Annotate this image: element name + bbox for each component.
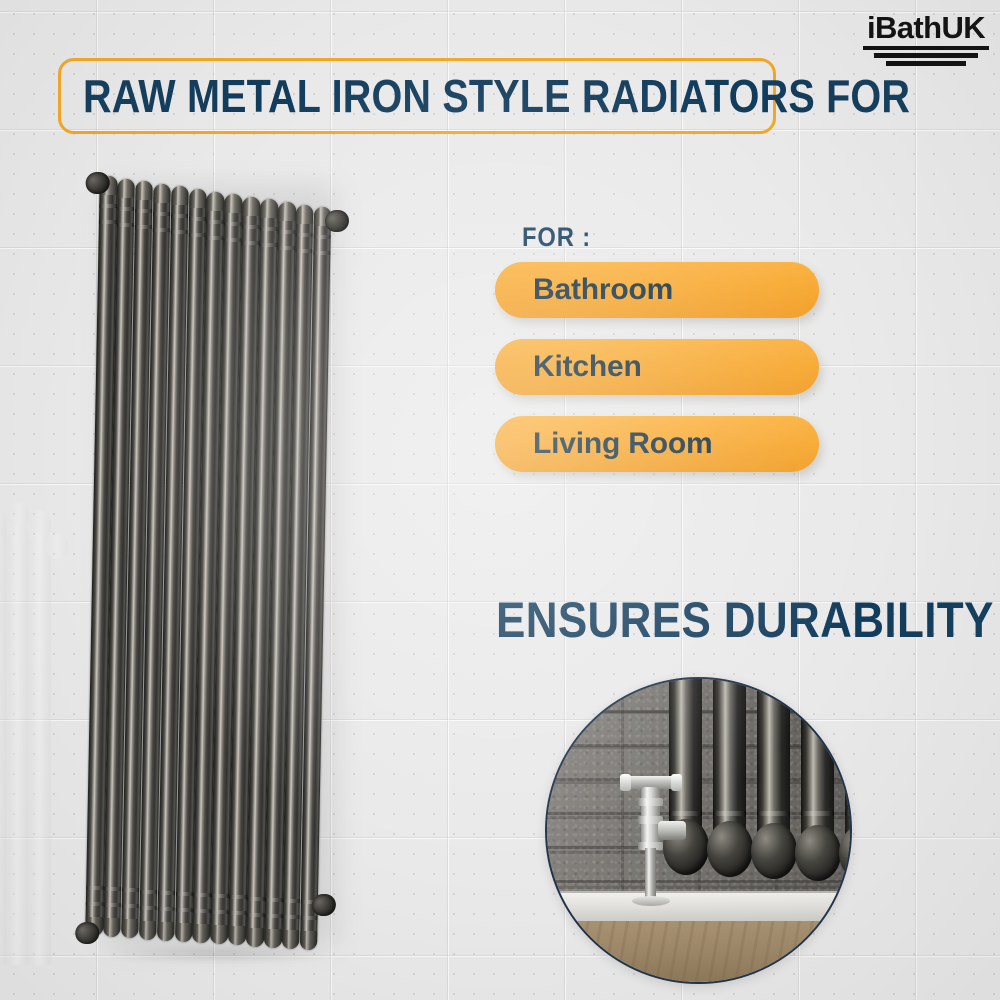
radiator-column-band [170, 230, 188, 234]
radiator-column-cap [117, 179, 135, 198]
radiator-column-band [117, 223, 135, 227]
radiator-column-band [122, 888, 140, 892]
radiator-column-band [104, 903, 122, 907]
radiator-column-band [99, 220, 117, 224]
radiator-column-band [153, 212, 171, 216]
radiator-column-band [247, 913, 265, 917]
brand-logo: iBathUK [862, 12, 990, 68]
radiator-column-band [117, 207, 135, 211]
brand-logo-text: iBathUK [867, 12, 985, 44]
pill-living-room[interactable]: Living Room [495, 416, 819, 472]
radiator-column-band [283, 899, 301, 903]
headline-box: RAW METAL IRON STYLE RADIATORS FOR [58, 58, 776, 134]
logo-bar-3 [886, 61, 966, 66]
radiator-column-band [86, 902, 104, 906]
detail-chrome-valve [622, 776, 680, 904]
radiator-column-band [265, 898, 283, 902]
radiator-valve-port [312, 894, 336, 916]
radiator-column-band [260, 227, 278, 231]
radiator-column-band [211, 910, 229, 914]
radiator-column-band [313, 235, 331, 239]
radiator-column-cap [296, 205, 314, 224]
radiator-valve-port [75, 922, 99, 944]
radiator-column-band [104, 887, 122, 891]
radiator-column-band [86, 886, 104, 890]
radiator-column-band [99, 204, 117, 208]
radiator-column-foot [121, 919, 139, 938]
radiator-column-band [211, 894, 229, 898]
radiator-column-foot [228, 926, 246, 945]
radiator-column-band [175, 892, 193, 896]
radiator-column-cap [260, 199, 278, 218]
radiator-column-band [193, 909, 211, 913]
radiator-column-band [135, 209, 153, 213]
radiator-column-band [224, 238, 242, 242]
radiator-column-band [282, 915, 300, 919]
radiator-column-band [139, 906, 157, 910]
radiator-column-cap [171, 186, 189, 205]
radiator-column-band [313, 251, 331, 255]
radiator-column-band [188, 233, 206, 237]
use-case-pill-list: Bathroom Kitchen Living Room [495, 262, 821, 493]
for-label: FOR : [522, 222, 591, 253]
radiator-column-cap [189, 189, 207, 208]
radiator-valve-port [325, 210, 349, 232]
radiator-column-band [193, 893, 211, 897]
radiator-column-foot [192, 924, 210, 943]
radiator-column-cap [278, 202, 296, 221]
detail-closeup-circle [545, 677, 852, 984]
logo-bar-1 [863, 46, 989, 50]
radiator-column-band [277, 246, 295, 250]
detail-skirting-board [547, 891, 850, 921]
radiator-column-band [296, 233, 314, 237]
page-title: RAW METAL IRON STYLE RADIATORS FOR [83, 73, 910, 119]
radiator-column-band [152, 228, 170, 232]
detail-scene [547, 679, 850, 982]
radiator-column-band [135, 225, 153, 229]
ghost-radiator-watermark [0, 495, 80, 965]
radiator-valve-port [85, 172, 109, 194]
detail-wood-floor [547, 921, 850, 982]
radiator-column-band [278, 230, 296, 234]
radiator-columns-group [85, 166, 336, 950]
pill-kitchen[interactable]: Kitchen [495, 339, 819, 395]
radiator-column-band [242, 241, 260, 245]
product-radiator-image [100, 166, 336, 950]
radiator-column-foot [175, 923, 193, 942]
durability-heading: ENSURES DURABILITY [496, 595, 994, 645]
radiator-column-band [265, 914, 283, 918]
radiator-column-cap [153, 184, 171, 203]
radiator-column-band [242, 225, 260, 229]
pill-living-room-label: Living Room [533, 427, 712, 461]
radiator-column-cap [242, 197, 260, 216]
radiator-column-cap [207, 192, 225, 211]
radiator-column-cap [135, 181, 153, 200]
radiator-column-band [224, 222, 242, 226]
pill-bathroom-label: Bathroom [533, 273, 673, 307]
detail-radiator-columns [669, 677, 852, 888]
radiator-column-band [171, 214, 189, 218]
radiator-column-band [122, 904, 140, 908]
radiator-column-band [175, 908, 193, 912]
radiator-column-band [206, 220, 224, 224]
radiator-column-band [229, 895, 247, 899]
radiator-column-band [158, 891, 176, 895]
logo-bar-2 [874, 53, 978, 58]
radiator-column-band [247, 897, 265, 901]
radiator-column-band [206, 236, 224, 240]
radiator-column-band [295, 249, 313, 253]
radiator-column-foot [210, 925, 228, 944]
radiator-floor-shadow [104, 944, 334, 962]
radiator-column-foot [157, 922, 175, 941]
radiator-column-cap [224, 194, 242, 213]
poster-canvas: iBathUK RAW METAL IRON STYLE RADIATORS F… [0, 0, 1000, 1000]
radiator-column-band [229, 911, 247, 915]
pill-kitchen-label: Kitchen [533, 350, 642, 384]
radiator-column-band [188, 217, 206, 221]
radiator-column-band [140, 890, 158, 894]
radiator-column-band [300, 916, 318, 920]
radiator-column-band [260, 243, 278, 247]
pill-bathroom[interactable]: Bathroom [495, 262, 819, 318]
radiator-column-foot [103, 918, 121, 937]
radiator-column-foot [139, 921, 157, 940]
radiator-column-band [157, 907, 175, 911]
